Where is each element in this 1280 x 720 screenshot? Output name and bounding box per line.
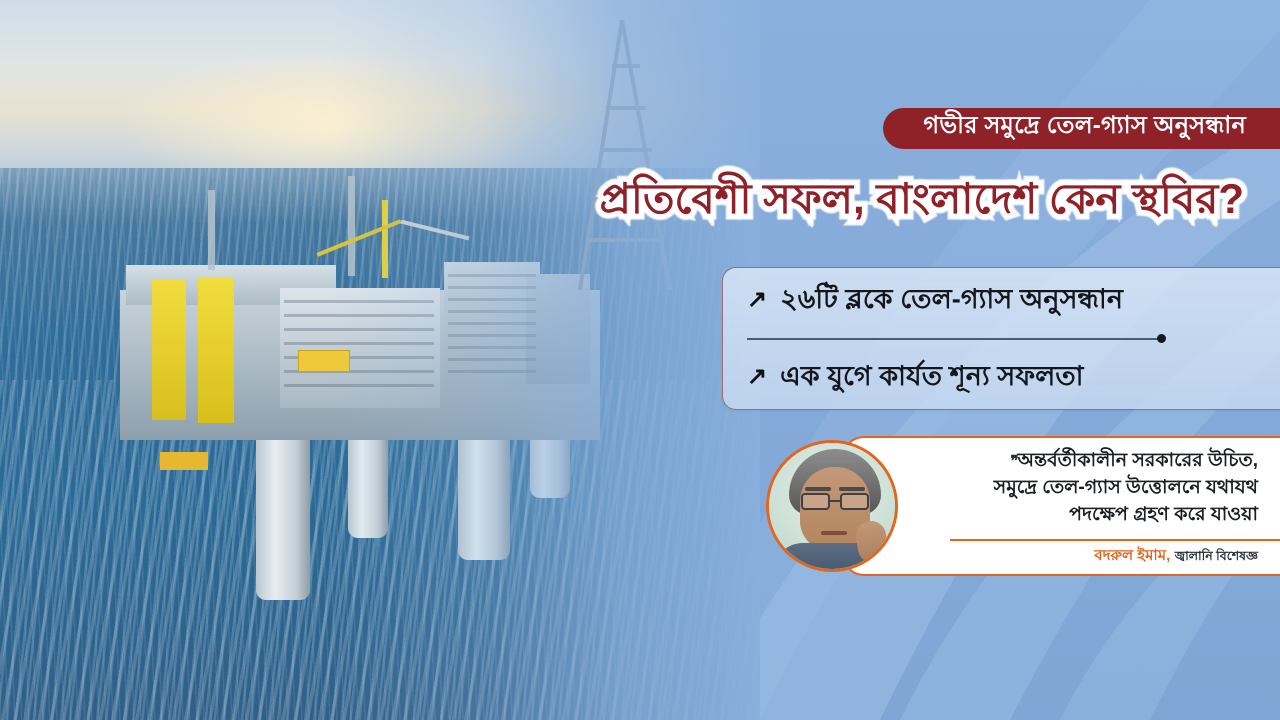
oil-platform-photo <box>0 0 760 720</box>
quote-line-1: অন্তর্বর্তীকালীন সরকারের উচিত, <box>1018 450 1258 471</box>
key-point-label-1: ২৬টি ব্লকে তেল-গ্যাস অনুসন্ধান <box>780 279 1123 324</box>
divider-line <box>747 338 1161 340</box>
author-role: জ্বালানি বিশেষজ্ঞ <box>1175 549 1258 563</box>
glasses-icon <box>800 493 870 510</box>
avatar-brow-left <box>805 487 831 491</box>
quote-line-3: পদক্ষেপ গ্রহণ করে যাওয়া <box>908 502 1258 529</box>
kicker-banner: গভীর সমুদ্রে তেল-গ্যাস অনুসন্ধান <box>883 108 1280 149</box>
page-title: প্রতিবেশী সফল, বাংলাদেশ কেন স্থবির? <box>600 176 1244 222</box>
expert-quote-block: ❞অন্তর্বর্তীকালীন সরকারের উচিত, সমুদ্রে … <box>766 436 1280 576</box>
arrow-up-right-icon: ↗ <box>747 288 767 312</box>
kicker-banner-label: গভীর সমুদ্রে তেল-গ্যাস অনুসন্ধান <box>923 107 1246 147</box>
arrow-up-right-icon: ↗ <box>747 365 767 389</box>
author-name: বদরুল ইমাম, <box>1094 547 1170 564</box>
quote-text: ❞অন্তর্বর্তীকালীন সরকারের উচিত, সমুদ্রে … <box>908 448 1258 529</box>
attribution-divider <box>950 539 1280 541</box>
avatar <box>766 440 898 572</box>
avatar-mouth <box>821 531 847 535</box>
quote-line-2: সমুদ্রে তেল-গ্যাস উত্তোলনে যথাযথ <box>908 475 1258 502</box>
infographic-canvas: গভীর সমুদ্রে তেল-গ্যাস অনুসন্ধান প্রতিবে… <box>0 0 1280 720</box>
divider-dot <box>1157 334 1166 343</box>
key-point-row-1: ↗ ২৬টি ব্লকে তেল-গ্যাস অনুসন্ধান <box>723 268 1280 334</box>
avatar-brow-right <box>839 487 865 491</box>
quote-card: ❞অন্তর্বর্তীকালীন সরকারের উচিত, সমুদ্রে … <box>842 436 1280 576</box>
photo-to-panel-fade <box>330 0 760 720</box>
key-point-label-2: এক যুগে কার্যত শূন্য সফলতা <box>780 356 1083 401</box>
key-point-row-2: ↗ এক যুগে কার্যত শূন্য সফলতা <box>723 345 1280 411</box>
key-points-divider <box>747 334 1280 345</box>
quote-attribution: বদরুল ইমাম, জ্বালানি বিশেষজ্ঞ <box>1094 544 1258 569</box>
key-points-card: ↗ ২৬টি ব্লকে তেল-গ্যাস অনুসন্ধান ↗ এক যু… <box>722 267 1280 410</box>
quote-mark-icon: ❞ <box>1010 453 1016 470</box>
